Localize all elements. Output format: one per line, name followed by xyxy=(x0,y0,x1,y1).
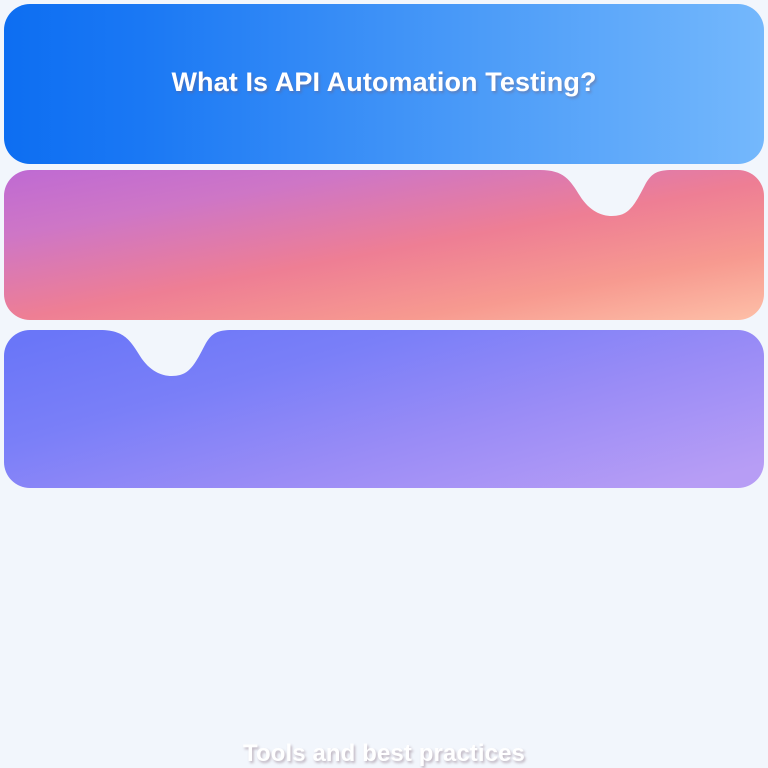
panel-stack: What Is API Automation Testing? How to p… xyxy=(0,0,768,492)
panel-tools-label: Tools and best practices xyxy=(4,740,764,768)
panel-tools[interactable]: Tools and best practices xyxy=(4,330,764,488)
panel-hero-label: What Is API Automation Testing? xyxy=(4,67,764,98)
panel-tools-shape xyxy=(4,330,764,488)
panel-how[interactable]: How to perform xyxy=(4,170,764,320)
panel-hero[interactable]: What Is API Automation Testing? xyxy=(4,4,764,164)
panel-how-shape xyxy=(4,170,764,320)
